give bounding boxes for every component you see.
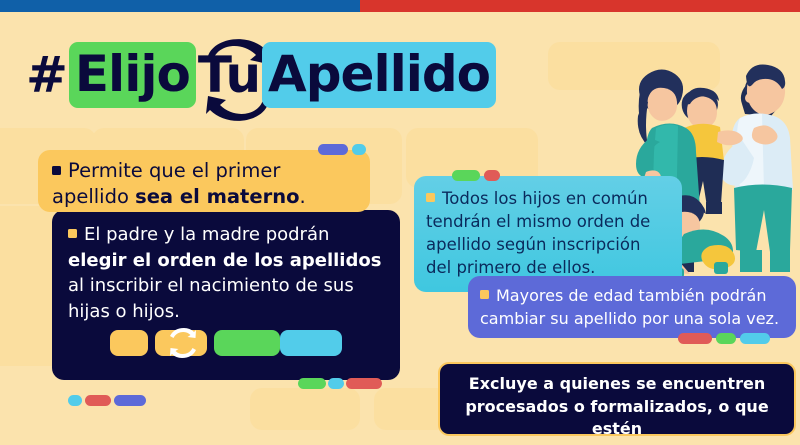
excluye-line-3: condenados por delitos sexuales. <box>454 441 780 445</box>
decor-pill-cyan-5 <box>740 333 770 344</box>
headline-hash: # <box>26 46 69 104</box>
headline-tu: Tu <box>196 46 262 104</box>
swap-pill-yellow-1 <box>110 330 148 356</box>
permite-text-end: . <box>300 185 306 208</box>
elegir-seg3: al inscribir el nacimiento de sus hijas … <box>68 275 354 322</box>
decor-pill-red-2 <box>346 378 382 389</box>
decor-pill-purple-3 <box>114 395 146 406</box>
swap-pill-cyan <box>280 330 342 356</box>
decor-pill-red-5 <box>678 333 712 344</box>
square-bullet-icon <box>52 166 61 175</box>
swap-pill-green <box>214 330 280 356</box>
permite-card: Permite que el primer apellido sea el ma… <box>38 150 370 212</box>
flag-blue-segment <box>0 0 360 12</box>
infographic-canvas: #ElijoTuApellido <box>0 0 800 445</box>
permite-text-bold: sea el materno <box>135 185 299 208</box>
mayores-edad-text: Mayores de edad también podrán cambiar s… <box>480 286 779 328</box>
decor-pill-green-2 <box>298 378 326 389</box>
decor-pill-red-3 <box>85 395 111 406</box>
mismo-orden-card: Todos los hijos en común tendrán el mism… <box>414 176 682 292</box>
chile-flag-bar <box>0 0 800 12</box>
decor-pill-cyan-2 <box>328 378 344 389</box>
elegir-seg2-bold: elegir el orden de los apellidos <box>68 250 381 271</box>
decor-pill-cyan-1 <box>352 144 366 155</box>
decor-pill-cyan-3 <box>68 395 82 406</box>
decor-pill-green-5 <box>716 333 736 344</box>
flag-red-segment <box>360 0 800 12</box>
excluye-line-1: Excluye a quienes se encuentren <box>454 373 780 396</box>
elegir-seg1: El padre y la madre podrán <box>84 224 329 245</box>
square-bullet-icon <box>426 193 435 202</box>
headline-apellido: Apellido <box>262 42 496 108</box>
square-bullet-icon <box>68 229 77 238</box>
square-bullet-icon <box>480 290 489 299</box>
decor-pill-green-4 <box>452 170 480 181</box>
mayores-edad-card: Mayores de edad también podrán cambiar s… <box>468 276 796 338</box>
swap-circular-arrows-icon <box>163 323 203 363</box>
bg-block-7 <box>250 388 360 430</box>
headline: #ElijoTuApellido <box>26 44 496 106</box>
decor-pill-purple-1 <box>318 144 348 155</box>
excluye-card: Excluye a quienes se encuentren procesad… <box>438 362 796 436</box>
decor-pill-red-4 <box>484 170 500 181</box>
mismo-orden-text: Todos los hijos en común tendrán el mism… <box>426 189 650 277</box>
excluye-line-2: procesados o formalizados, o que estén <box>454 396 780 441</box>
headline-elijo: Elijo <box>69 42 196 108</box>
